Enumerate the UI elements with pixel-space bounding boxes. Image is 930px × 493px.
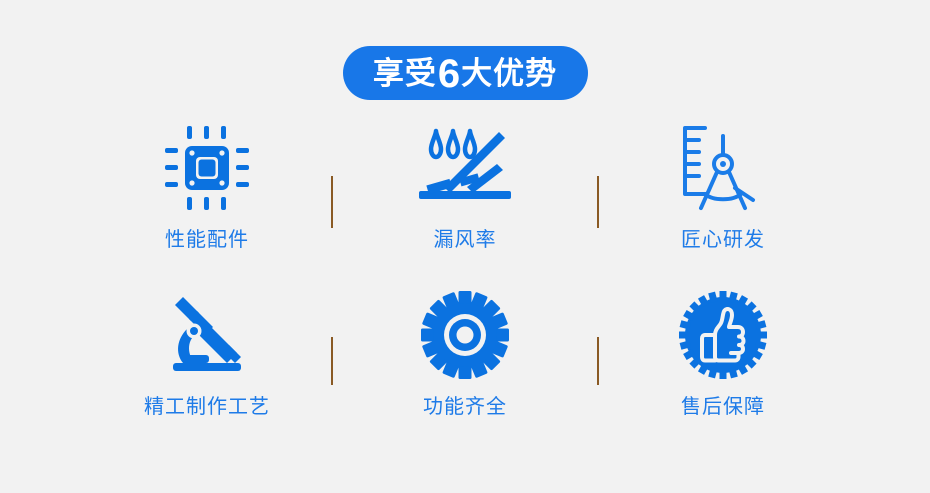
- gear-icon: [421, 285, 509, 385]
- feature-label: 精工制作工艺: [144, 397, 270, 417]
- feature-label: 功能齐全: [423, 397, 507, 417]
- ruler-compass-icon: [677, 118, 769, 218]
- water-repellent-icon: [415, 118, 515, 218]
- thumbs-up-badge-icon: [679, 285, 767, 385]
- column-divider: [331, 337, 333, 385]
- feature-label: 匠心研发: [681, 230, 765, 250]
- feature-item-rnd[interactable]: 匠心研发: [594, 118, 852, 250]
- feature-row-top: 性能配件: [0, 118, 930, 285]
- feature-grid: 性能配件: [0, 118, 930, 452]
- cpu-chip-icon: [161, 118, 253, 218]
- feature-item-craftsmanship[interactable]: 精工制作工艺: [78, 285, 336, 417]
- feature-item-full-function[interactable]: 功能齐全: [336, 285, 594, 417]
- feature-item-air-leakage[interactable]: 漏风率: [336, 118, 594, 250]
- feature-row-bottom: 精工制作工艺: [0, 285, 930, 452]
- header-badge: 享受 6 大优势: [343, 46, 588, 100]
- microscope-icon: [161, 285, 253, 385]
- badge-prefix-text: 享受: [373, 58, 437, 89]
- badge-number-text: 6: [437, 54, 461, 94]
- column-divider: [597, 337, 599, 385]
- badge-suffix-text: 大优势: [461, 58, 557, 89]
- feature-label: 漏风率: [434, 230, 497, 250]
- column-divider: [331, 176, 333, 228]
- feature-label: 售后保障: [681, 397, 765, 417]
- feature-item-after-sales[interactable]: 售后保障: [594, 285, 852, 417]
- header-badge-container: 享受 6 大优势: [0, 46, 930, 100]
- promo-banner: 享受 6 大优势: [0, 0, 930, 493]
- feature-item-performance-parts[interactable]: 性能配件: [78, 118, 336, 250]
- column-divider: [597, 176, 599, 228]
- feature-label: 性能配件: [165, 230, 249, 250]
